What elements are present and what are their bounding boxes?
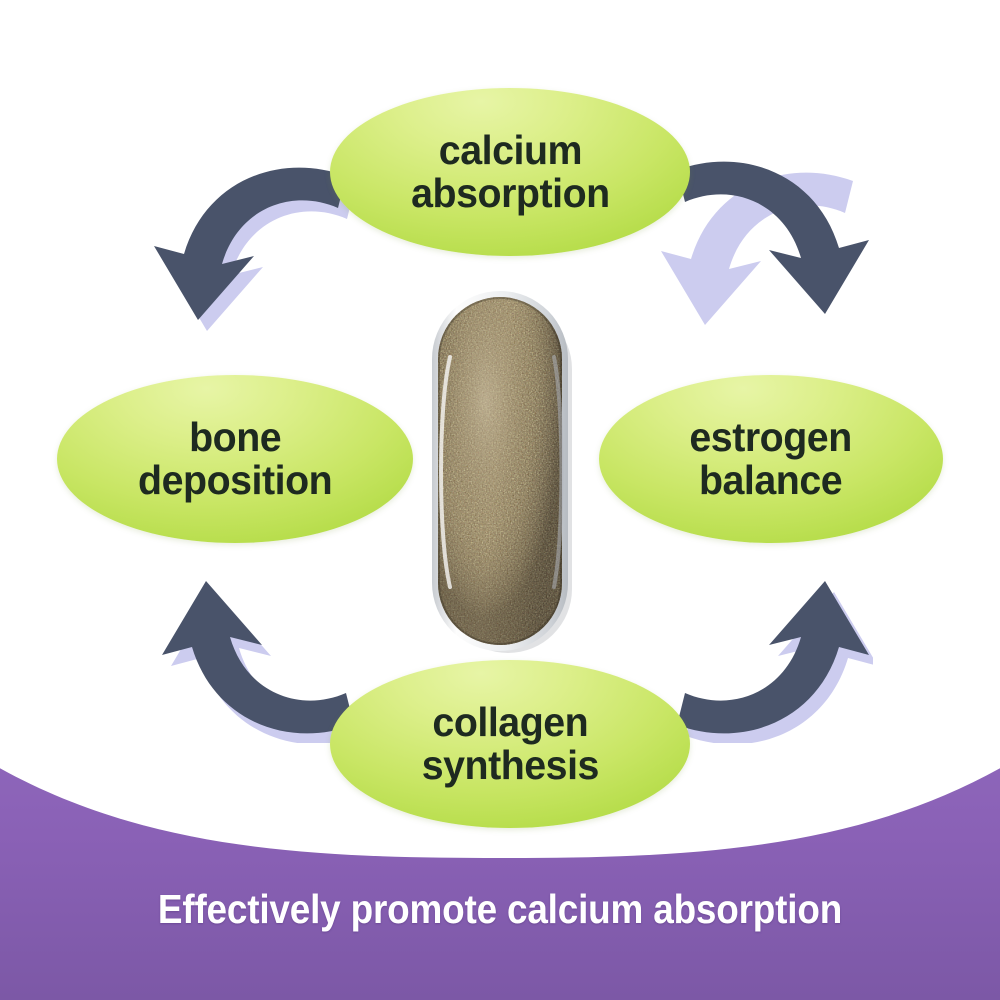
supplement-tablet	[424, 287, 576, 655]
node-label-line2: absorption	[411, 172, 610, 215]
banner-headline: Effectively promote calcium absorption	[50, 886, 950, 933]
node-collagen-synthesis[interactable]: collagen synthesis	[330, 660, 690, 828]
node-label-line2: deposition	[138, 459, 332, 502]
node-label-line2: synthesis	[421, 744, 598, 787]
node-calcium-absorption[interactable]: calcium absorption	[330, 88, 690, 256]
node-label: bone deposition	[138, 416, 332, 503]
node-label-line2: balance	[690, 459, 852, 502]
node-label-line1: collagen	[432, 699, 588, 745]
node-estrogen-balance[interactable]: estrogen balance	[599, 375, 943, 543]
curved-arrow-up-right-icon	[648, 538, 873, 743]
node-label-line1: estrogen	[690, 414, 852, 460]
node-label-line1: calcium	[438, 127, 581, 173]
node-label-line1: bone	[189, 414, 281, 460]
node-label: collagen synthesis	[421, 701, 598, 788]
node-bone-deposition[interactable]: bone deposition	[57, 375, 413, 543]
infographic-canvas: Effectively promote calcium absorption	[0, 0, 1000, 1000]
node-label: estrogen balance	[690, 416, 852, 503]
capsule-tablet-icon	[424, 287, 576, 655]
node-label: calcium absorption	[411, 129, 610, 216]
